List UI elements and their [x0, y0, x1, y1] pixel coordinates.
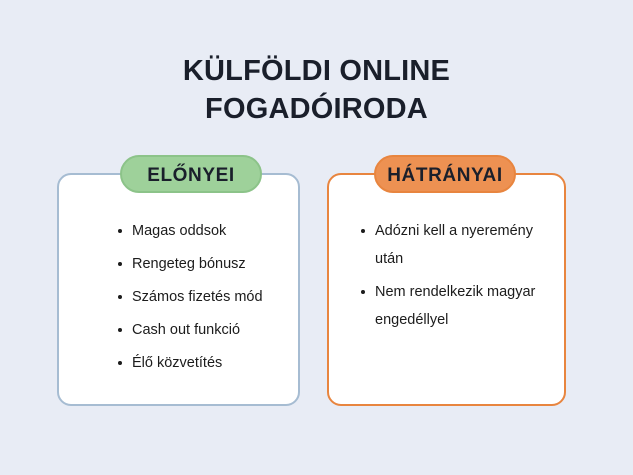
page-title-line-1: KÜLFÖLDI ONLINE — [0, 52, 633, 90]
list-item: Rengeteg bónusz — [116, 250, 291, 278]
pros-badge: ELŐNYEI — [120, 155, 262, 193]
list-item: Élő közvetítés — [116, 349, 291, 377]
pros-card: ELŐNYEI Magas oddsok Rengeteg bónusz Szá… — [57, 173, 300, 406]
page-title: KÜLFÖLDI ONLINE FOGADÓIRODA — [0, 52, 633, 128]
list-item: Adózni kell a nyeremény után — [359, 217, 554, 273]
cards-container: ELŐNYEI Magas oddsok Rengeteg bónusz Szá… — [57, 173, 566, 406]
page-title-line-2: FOGADÓIRODA — [0, 90, 633, 128]
pros-list: Magas oddsok Rengeteg bónusz Számos fize… — [116, 217, 291, 382]
infographic-slide: KÜLFÖLDI ONLINE FOGADÓIRODA ELŐNYEI Maga… — [0, 0, 633, 475]
list-item: Számos fizetés mód — [116, 283, 291, 311]
cons-badge: HÁTRÁNYAI — [374, 155, 516, 193]
list-item: Magas oddsok — [116, 217, 291, 245]
cons-card: HÁTRÁNYAI Adózni kell a nyeremény után N… — [327, 173, 566, 406]
list-item: Nem rendelkezik magyar engedéllyel — [359, 278, 554, 334]
cons-list: Adózni kell a nyeremény után Nem rendelk… — [359, 217, 554, 339]
list-item: Cash out funkció — [116, 316, 291, 344]
